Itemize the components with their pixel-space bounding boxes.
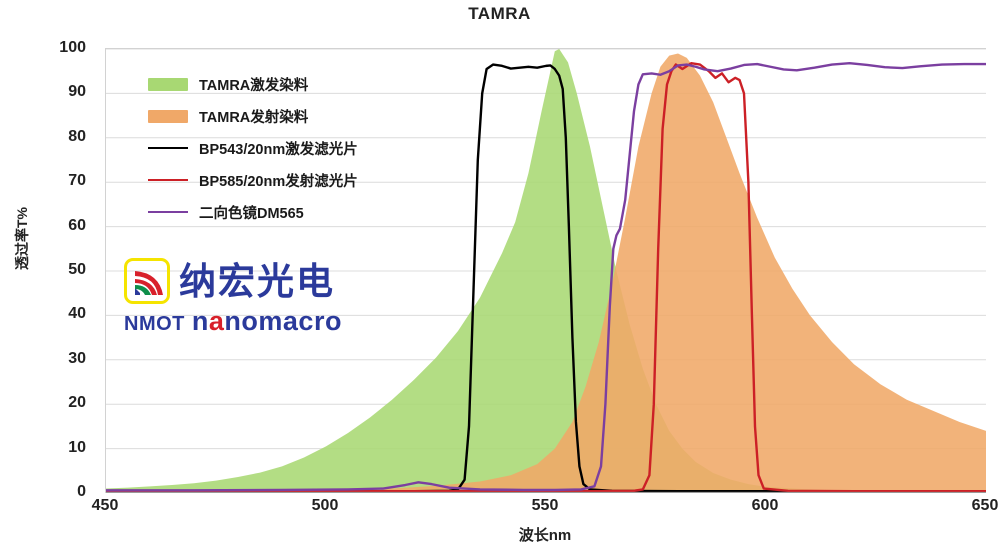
chart-title: TAMRA bbox=[0, 4, 999, 24]
chart-legend: TAMRA激发染料TAMRA发射染料BP543/20nm激发滤光片BP585/2… bbox=[148, 68, 398, 228]
y-tick-90: 90 bbox=[68, 83, 86, 101]
legend-swatch-icon bbox=[148, 78, 188, 91]
legend-item-0[interactable]: TAMRA激发染料 bbox=[148, 68, 398, 100]
y-tick-50: 50 bbox=[68, 261, 86, 279]
x-tick-450: 450 bbox=[92, 497, 119, 515]
legend-label: BP585/20nm发射滤光片 bbox=[199, 170, 358, 191]
x-tick-650: 650 bbox=[972, 497, 999, 515]
legend-line-icon bbox=[148, 179, 188, 181]
legend-label: 二向色镜DM565 bbox=[199, 202, 304, 223]
x-tick-550: 550 bbox=[532, 497, 559, 515]
legend-item-1[interactable]: TAMRA发射染料 bbox=[148, 100, 398, 132]
legend-label: TAMRA发射染料 bbox=[199, 106, 308, 127]
legend-item-2[interactable]: BP543/20nm激发滤光片 bbox=[148, 132, 398, 164]
y-tick-40: 40 bbox=[68, 305, 86, 323]
y-tick-80: 80 bbox=[68, 128, 86, 146]
y-tick-70: 70 bbox=[68, 172, 86, 190]
y-tick-20: 20 bbox=[68, 394, 86, 412]
chart-root: TAMRA 透过率T% 0102030405060708090100 45050… bbox=[0, 0, 999, 554]
legend-label: BP543/20nm激发滤光片 bbox=[199, 138, 358, 159]
y-tick-10: 10 bbox=[68, 439, 86, 457]
x-tick-600: 600 bbox=[752, 497, 779, 515]
y-tick-100: 100 bbox=[59, 39, 86, 57]
legend-line-icon bbox=[148, 147, 188, 149]
y-tick-30: 30 bbox=[68, 350, 86, 368]
legend-item-3[interactable]: BP585/20nm发射滤光片 bbox=[148, 164, 398, 196]
x-axis-title: 波长nm bbox=[105, 524, 985, 545]
legend-line-icon bbox=[148, 211, 188, 213]
x-axis-tick-labels: 450500550600650 bbox=[105, 497, 985, 523]
y-axis-tick-labels: 0102030405060708090100 bbox=[0, 48, 96, 492]
y-tick-60: 60 bbox=[68, 217, 86, 235]
legend-label: TAMRA激发染料 bbox=[199, 74, 308, 95]
y-tick-0: 0 bbox=[77, 483, 86, 501]
x-tick-500: 500 bbox=[312, 497, 339, 515]
legend-swatch-icon bbox=[148, 110, 188, 123]
legend-item-4[interactable]: 二向色镜DM565 bbox=[148, 196, 398, 228]
